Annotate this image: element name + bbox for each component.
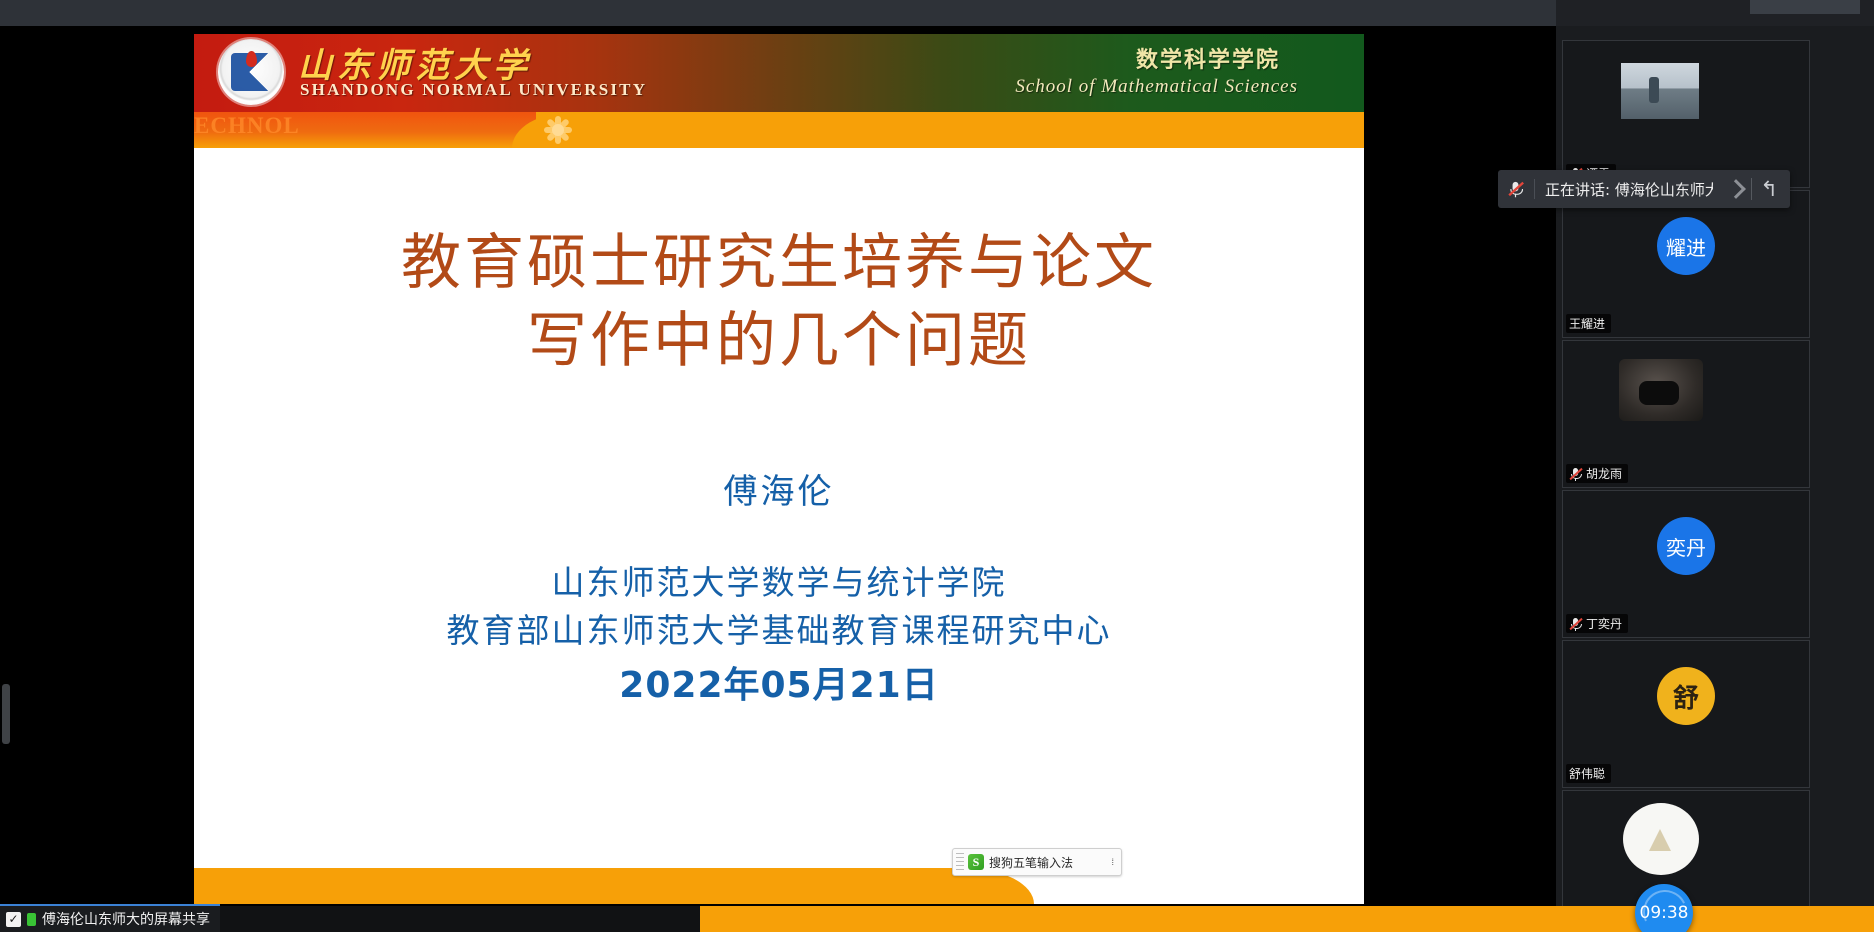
participants-panel: 谭雪 耀进 王耀进 胡龙雨 奕丹 [1556, 26, 1874, 932]
mic-muted-icon [1569, 467, 1582, 481]
participant-tile[interactable]: 舒 舒伟聪 [1562, 640, 1810, 788]
toast-divider-2 [1751, 178, 1752, 200]
department-name-cn: 数学科学学院 [1136, 42, 1280, 74]
slide-date: 2022年05月21日 [194, 656, 1364, 708]
video-thumbnail [1621, 63, 1699, 119]
participant-name-chip: 丁奕丹 [1566, 614, 1628, 633]
window-top-chrome [0, 0, 1874, 26]
participant-name: 丁奕丹 [1586, 615, 1622, 632]
participant-name: 舒伟聪 [1569, 765, 1605, 782]
sogou-logo-icon: S [968, 854, 984, 870]
screen-root: 山东师范大学 SHANDONG NORMAL UNIVERSITY 数学科学学院… [0, 0, 1874, 932]
participant-name: 胡龙雨 [1586, 465, 1622, 482]
shared-slide[interactable]: 山东师范大学 SHANDONG NORMAL UNIVERSITY 数学科学学院… [194, 34, 1364, 904]
video-thumbnail [1623, 803, 1699, 875]
slide-banner: 山东师范大学 SHANDONG NORMAL UNIVERSITY 数学科学学院… [194, 34, 1364, 112]
speaking-label: 正在讲话: 傅海伦山东师大; [1545, 179, 1713, 200]
speaking-toast[interactable]: 正在讲话: 傅海伦山东师大; ↰ [1498, 170, 1790, 208]
avatar: 耀进 [1657, 217, 1715, 275]
participant-tile[interactable]: 奕丹 丁奕丹 [1562, 490, 1810, 638]
ime-name-label: 搜狗五笔输入法 [989, 854, 1073, 871]
status-dot-icon [27, 913, 36, 926]
avatar: 奕丹 [1657, 517, 1715, 575]
banner-band-ghost-text: ECHNOL [194, 112, 304, 140]
participant-name: 王耀进 [1569, 315, 1605, 332]
department-name-en: School of Mathematical Sciences [1015, 76, 1298, 98]
mic-muted-icon [1569, 617, 1582, 631]
participant-tile[interactable]: 谭雪 [1562, 40, 1810, 188]
participant-name-chip: 王耀进 [1566, 314, 1611, 333]
taskbar-item-label: 傅海伦山东师大的屏幕共享 [42, 909, 210, 929]
taskbar: ✓ 傅海伦山东师大的屏幕共享 [0, 906, 1874, 932]
slide-author: 傅海伦 [194, 464, 1364, 513]
meeting-timer-value: 09:38 [1640, 903, 1689, 923]
shared-content-chrome [0, 0, 1556, 26]
check-icon: ✓ [6, 912, 21, 927]
slide-bottom-band [194, 868, 1034, 904]
participant-tile[interactable]: 耀进 王耀进 [1562, 190, 1810, 338]
stage-scroll-handle[interactable] [2, 684, 10, 744]
sun-burst-icon [544, 116, 572, 144]
avatar: 舒 [1657, 667, 1715, 725]
mic-muted-icon[interactable] [1508, 181, 1523, 198]
back-arrow-icon[interactable]: ↰ [1760, 179, 1778, 200]
taskbar-orange-region [700, 906, 1874, 932]
ime-toolbar[interactable]: S 搜狗五笔输入法 ⁞ [952, 848, 1122, 876]
video-thumbnail [1619, 359, 1703, 421]
toast-divider [1534, 179, 1535, 199]
slide-affiliation: 山东师范大学数学与统计学院 教育部山东师范大学基础教育课程研究中心 [194, 559, 1364, 655]
university-name-en: SHANDONG NORMAL UNIVERSITY [300, 80, 647, 100]
ime-expand-icon[interactable]: ⁞ [1111, 858, 1114, 866]
banner-band-gradient: ECHNOL [194, 112, 536, 148]
participant-name-chip: 胡龙雨 [1566, 464, 1628, 483]
participant-name-chip: 舒伟聪 [1566, 764, 1611, 783]
chevron-right-icon[interactable] [1729, 182, 1743, 196]
taskbar-item-screen-share[interactable]: ✓ 傅海伦山东师大的屏幕共享 [0, 904, 220, 932]
slide-title: 教育硕士研究生培养与论文 写作中的几个问题 [194, 224, 1364, 380]
slide-banner-band: ECHNOL [194, 112, 1364, 148]
window-control-strip[interactable] [1750, 0, 1860, 14]
university-logo-icon [218, 39, 284, 105]
participant-tile[interactable]: 胡龙雨 [1562, 340, 1810, 488]
ime-drag-handle[interactable] [956, 853, 964, 871]
